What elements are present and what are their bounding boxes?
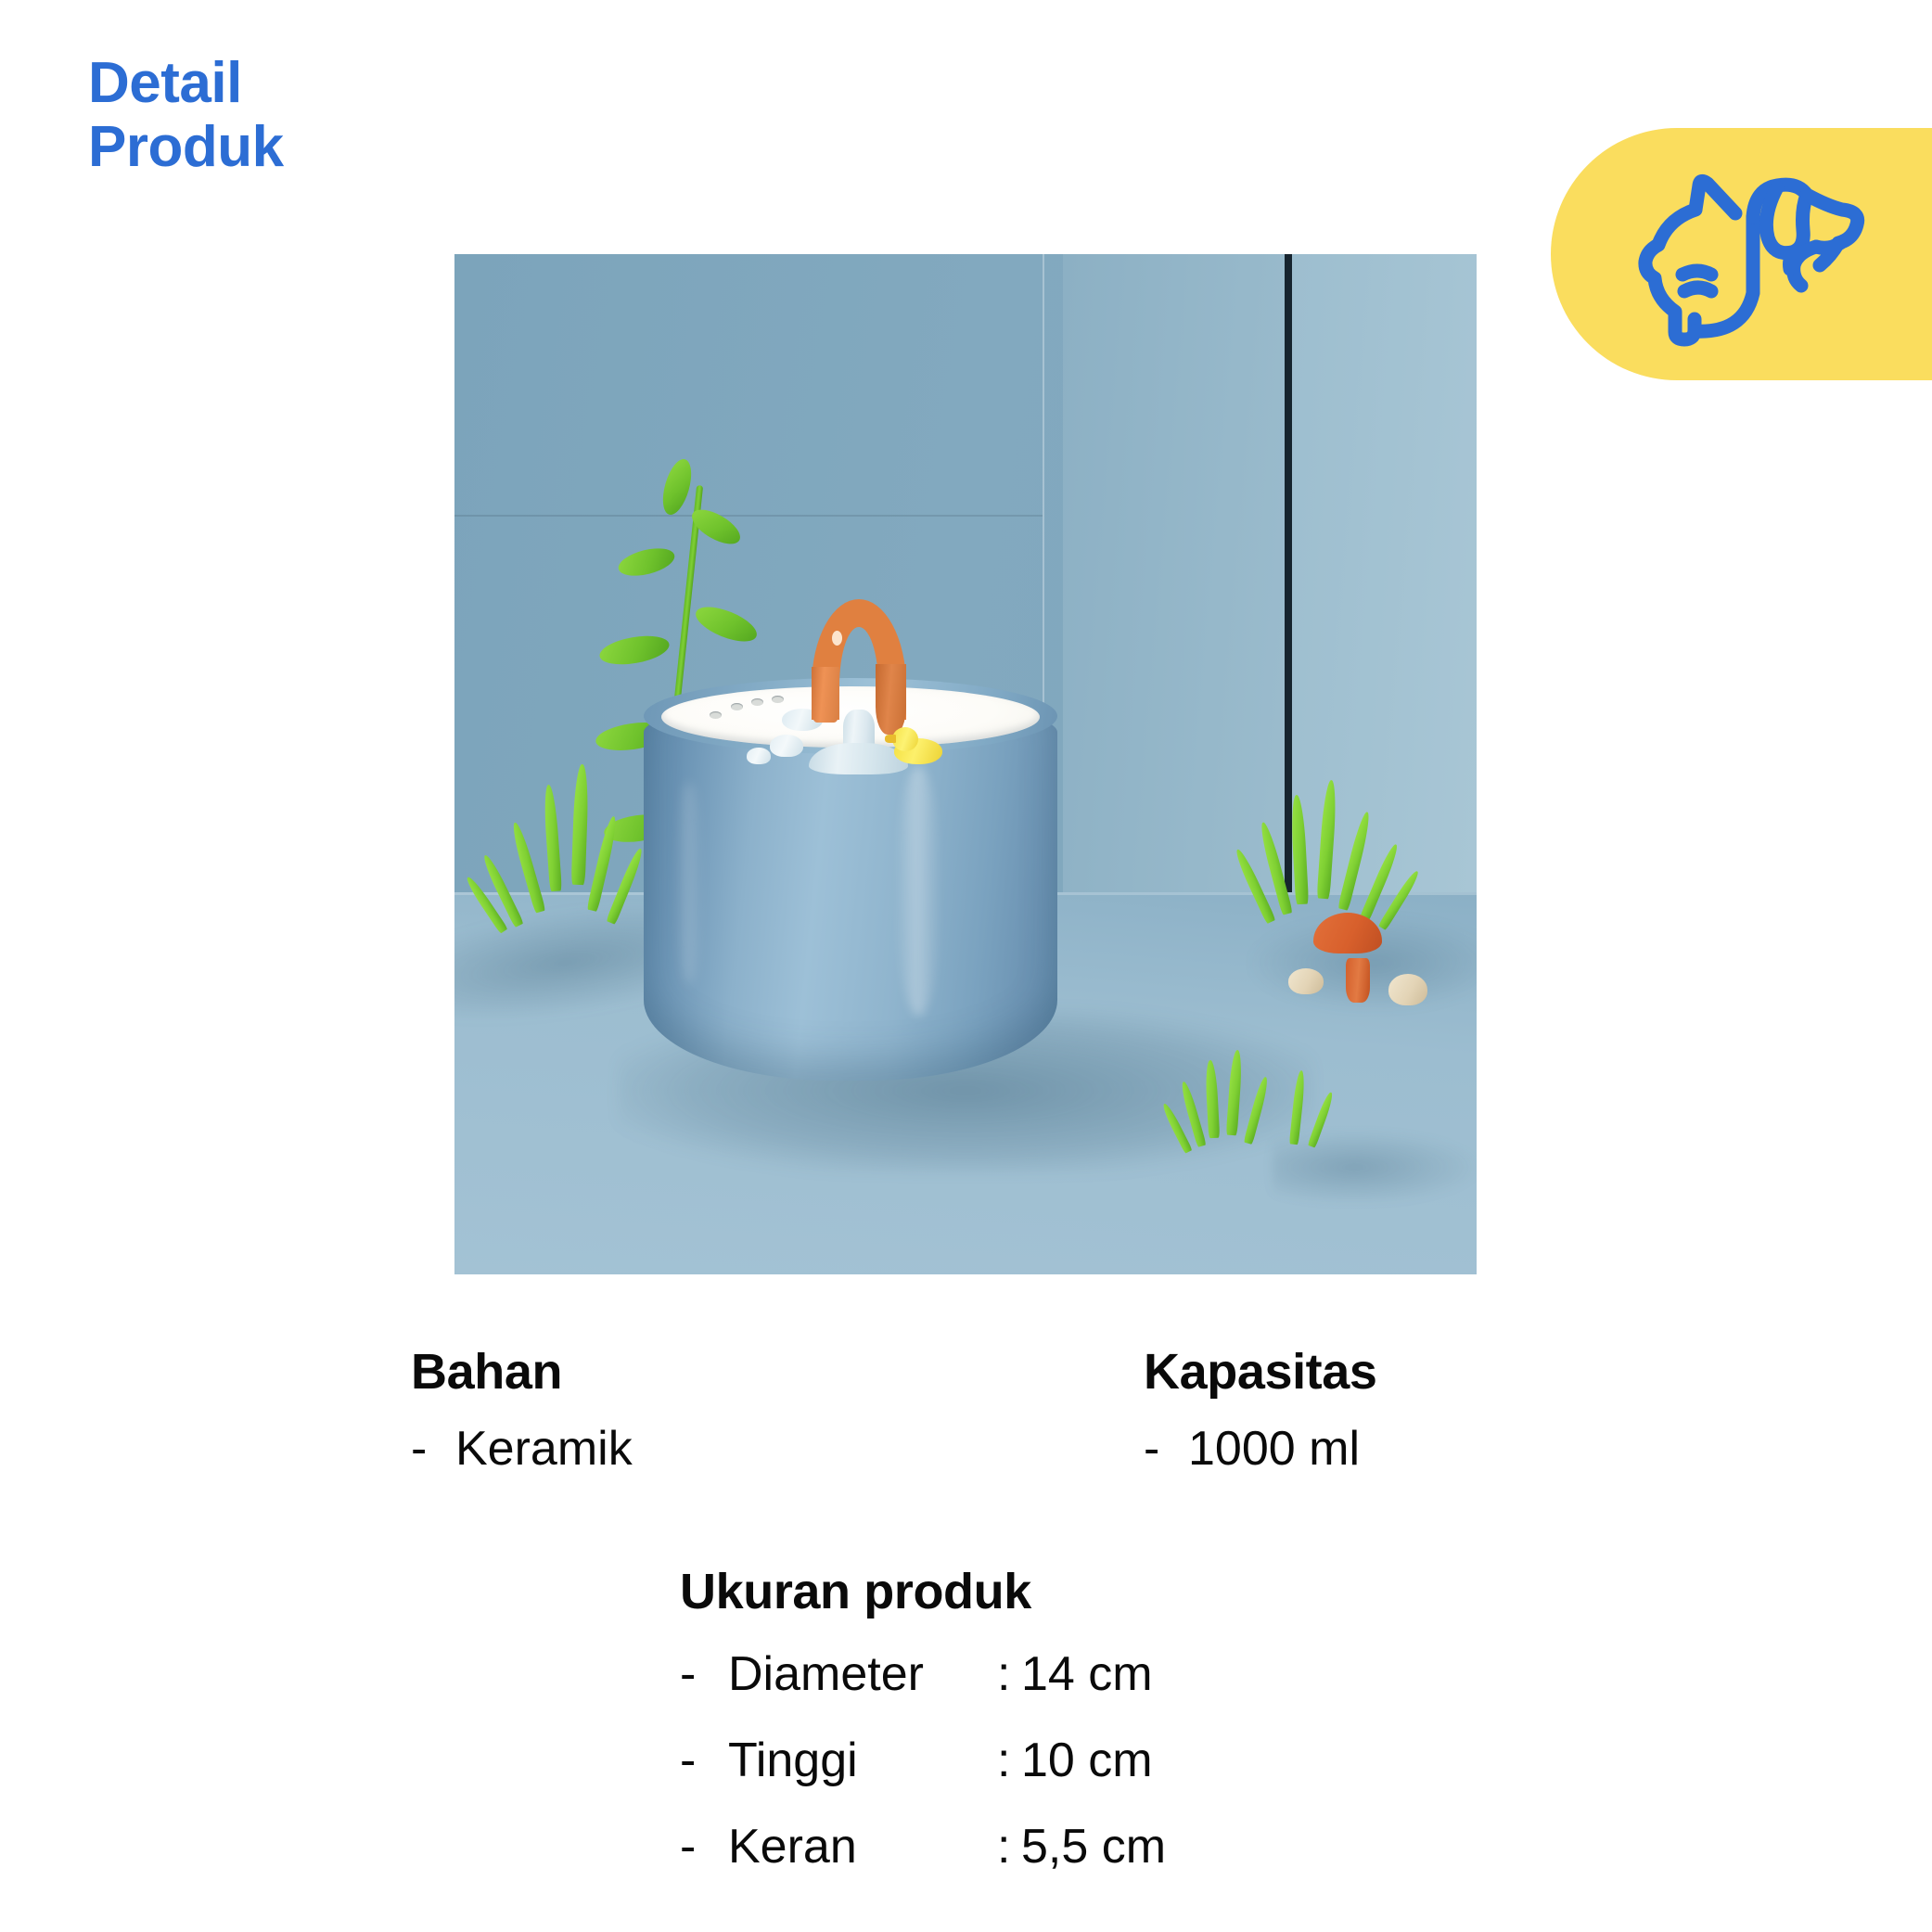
dimension-row-tinggi: -Tinggi:10 cm xyxy=(680,1733,1153,1788)
dimension-colon: : xyxy=(997,1646,1021,1702)
bullet-dash: - xyxy=(411,1421,455,1477)
pet-water-fountain xyxy=(644,678,1057,1081)
dimension-colon: : xyxy=(997,1819,1021,1874)
fountain-bowl-gloss xyxy=(896,766,941,1016)
bullet-dash: - xyxy=(680,1646,728,1702)
splash-pebble xyxy=(747,748,771,764)
dimension-row-keran: -Keran:5,5 cm xyxy=(680,1819,1166,1874)
fountain-hole xyxy=(751,698,763,706)
decor-stone-left xyxy=(1288,968,1324,994)
dimension-value: 5,5 cm xyxy=(1021,1819,1166,1874)
dimension-label: Diameter xyxy=(728,1646,997,1702)
spec-item-kapasitas: -1000 ml xyxy=(1144,1421,1360,1477)
spout-leg-left xyxy=(812,667,839,723)
spec-item-kapasitas-value: 1000 ml xyxy=(1188,1422,1360,1476)
photo-wall-panel-far xyxy=(1292,254,1477,892)
decor-stone-right xyxy=(1388,974,1427,1005)
spout-highlight xyxy=(832,631,842,646)
spec-heading-kapasitas: Kapasitas xyxy=(1144,1343,1377,1401)
dimension-row-diameter: -Diameter:14 cm xyxy=(680,1646,1153,1702)
splash-skirt xyxy=(809,743,908,774)
dimension-label: Tinggi xyxy=(728,1733,997,1788)
cat-and-dog-icon xyxy=(1606,156,1885,351)
spout-leg-right xyxy=(876,664,906,735)
spec-heading-ukuran-produk: Ukuran produk xyxy=(680,1563,1031,1620)
fountain-faucet-spout xyxy=(812,599,907,720)
bullet-dash: - xyxy=(1144,1421,1188,1477)
splash-pebble xyxy=(770,735,803,757)
bullet-dash: - xyxy=(680,1819,728,1874)
page-title: Detail Produk xyxy=(88,51,284,180)
dimension-colon: : xyxy=(997,1733,1021,1788)
dimension-label: Keran xyxy=(728,1819,997,1874)
spec-item-bahan-value: Keramik xyxy=(455,1422,633,1476)
spec-heading-bahan: Bahan xyxy=(411,1343,562,1401)
photo-wall-gap-line xyxy=(1285,254,1292,892)
fountain-bowl-gloss-left xyxy=(677,782,702,983)
photo-wall-seam-horizontal xyxy=(454,515,1043,517)
shadow-front-grass xyxy=(1273,1132,1477,1203)
product-image xyxy=(454,254,1477,1274)
dimension-value: 10 cm xyxy=(1021,1733,1153,1788)
brand-logo-badge xyxy=(1551,128,1932,380)
bullet-dash: - xyxy=(680,1733,728,1788)
spec-item-bahan: -Keramik xyxy=(411,1421,633,1477)
dimension-value: 14 cm xyxy=(1021,1646,1153,1702)
